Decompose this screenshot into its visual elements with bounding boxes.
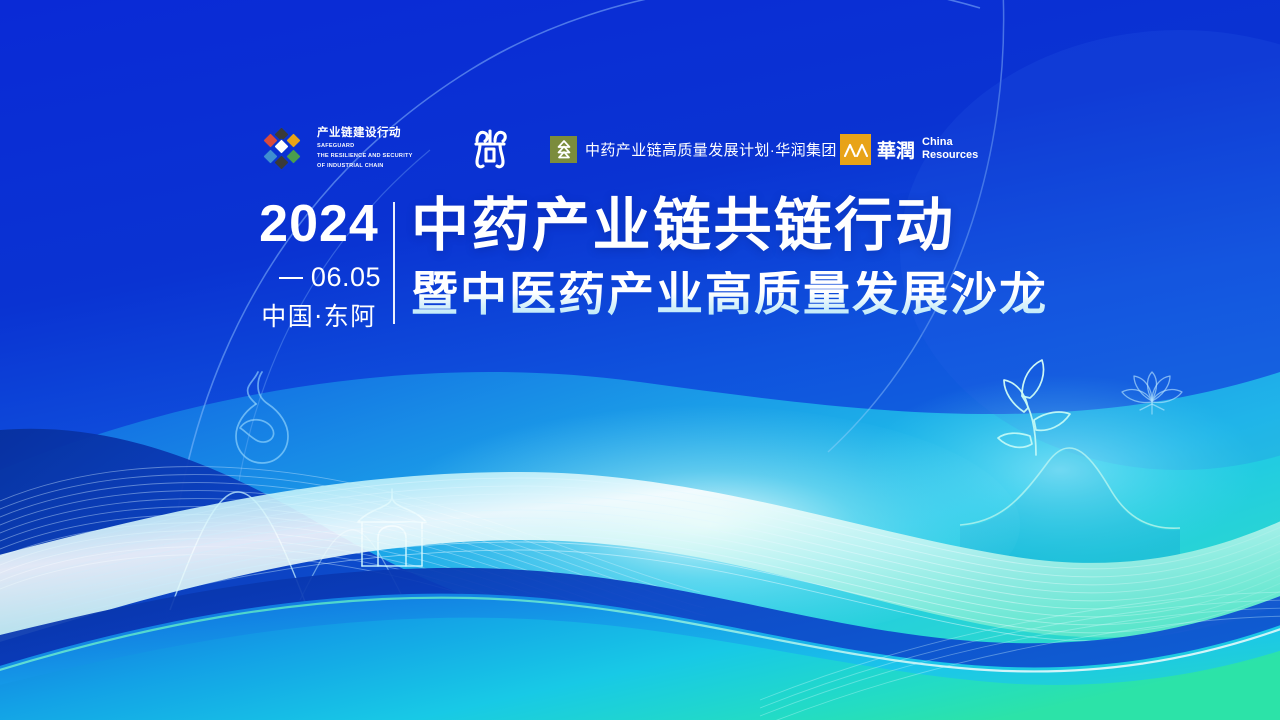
- logo1-en-line1: SAFEGUARD: [317, 143, 413, 151]
- logo1-text: 产业链建设行动 SAFEGUARD THE RESILIENCE AND SEC…: [317, 127, 413, 170]
- logo1-en-line3: OF INDUSTRIAL CHAIN: [317, 163, 413, 171]
- mountain-peaks-icon: [840, 134, 871, 165]
- logo-tcm-plan: 中药产业链高质量发展计划·华润集团: [550, 136, 840, 163]
- event-banner: 产业链建设行动 SAFEGUARD THE RESILIENCE AND SEC…: [0, 0, 1280, 720]
- logo3-cn-name: 中药产业链高质量发展计划·华润集团: [585, 139, 837, 160]
- event-date: 06.05: [311, 264, 381, 291]
- logo1-en-line2: THE RESILIENCE AND SECURITY: [317, 153, 413, 161]
- headline-column: 中药产业链共链行动 暨中医药产业高质量发展沙龙: [411, 196, 1048, 318]
- china-resources-en: China Resources: [915, 136, 978, 162]
- abstract-knot-icon: [467, 125, 513, 173]
- diamond-cluster-icon: [262, 125, 310, 173]
- banner-background: [0, 0, 1280, 720]
- green-leaf-square-icon: [550, 136, 577, 163]
- logo-abstract-mark: [430, 125, 550, 173]
- event-headline: 中药产业链共链行动: [411, 196, 1048, 254]
- logo-china-resources: 華潤 China Resources: [840, 134, 1002, 165]
- logo-industrial-chain-action: 产业链建设行动 SAFEGUARD THE RESILIENCE AND SEC…: [262, 125, 430, 173]
- sponsor-logo-row: 产业链建设行动 SAFEGUARD THE RESILIENCE AND SEC…: [262, 118, 1022, 180]
- cr-en-line1: China: [922, 136, 978, 149]
- event-year: 2024: [255, 198, 383, 250]
- date-location-column: 2024 06.05 中国·东阿: [255, 196, 383, 329]
- event-location: 中国·东阿: [255, 304, 383, 329]
- event-date-row: 06.05: [255, 264, 383, 291]
- china-resources-hanzi: 華潤: [877, 136, 915, 163]
- logo1-cn-name: 产业链建设行动: [317, 127, 413, 140]
- dash-rule: [279, 277, 303, 279]
- title-block: 2024 06.05 中国·东阿 中药产业链共链行动 暨中医药产业高质量发展沙龙: [255, 196, 1045, 336]
- cr-en-line2: Resources: [922, 149, 978, 162]
- event-subheadline: 暨中医药产业高质量发展沙龙: [411, 271, 1048, 318]
- title-divider: [393, 202, 395, 324]
